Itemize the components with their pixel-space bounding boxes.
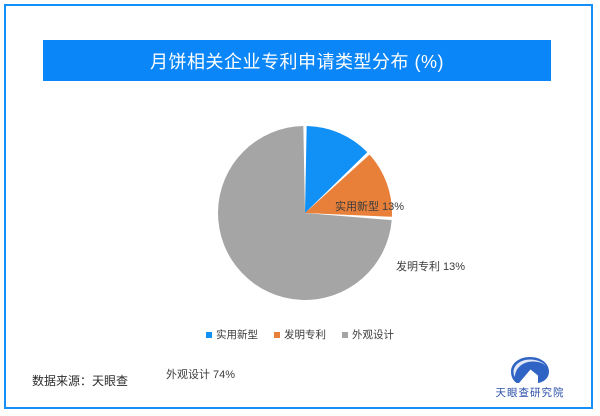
chart-title-banner: 月饼相关企业专利申请类型分布 (%) bbox=[43, 40, 551, 81]
legend-item-外观设计[interactable]: 外观设计 bbox=[342, 327, 394, 342]
legend-item-发明专利[interactable]: 发明专利 bbox=[274, 327, 326, 342]
data-source-note: 数据来源：天眼查 bbox=[32, 372, 128, 389]
brand-name: 天眼查研究院 bbox=[496, 385, 565, 400]
legend-item-实用新型[interactable]: 实用新型 bbox=[206, 327, 258, 342]
pie-chart: 实用新型 13% 发明专利 13% 外观设计 74% bbox=[0, 86, 600, 356]
legend-swatch-icon bbox=[274, 332, 280, 338]
pie-label-实用新型: 实用新型 13% bbox=[335, 198, 404, 214]
legend-swatch-icon bbox=[342, 332, 348, 338]
pie-label-发明专利: 发明专利 13% bbox=[396, 258, 465, 274]
chart-legend: 实用新型发明专利外观设计 bbox=[0, 327, 600, 342]
pie-chart-svg bbox=[0, 86, 600, 356]
chart-canvas: 月饼相关企业专利申请类型分布 (%) 实用新型 13% 发明专利 13% 外观设… bbox=[0, 0, 600, 416]
legend-label: 外观设计 bbox=[352, 327, 394, 342]
legend-label: 实用新型 bbox=[216, 327, 258, 342]
tianyancha-eye-arch-logo-icon bbox=[510, 356, 550, 384]
legend-label: 发明专利 bbox=[284, 327, 326, 342]
pie-label-外观设计: 外观设计 74% bbox=[166, 366, 235, 382]
page-title: 月饼相关企业专利申请类型分布 (%) bbox=[150, 48, 444, 74]
legend-swatch-icon bbox=[206, 332, 212, 338]
brand-block: 天眼查研究院 bbox=[482, 356, 578, 400]
